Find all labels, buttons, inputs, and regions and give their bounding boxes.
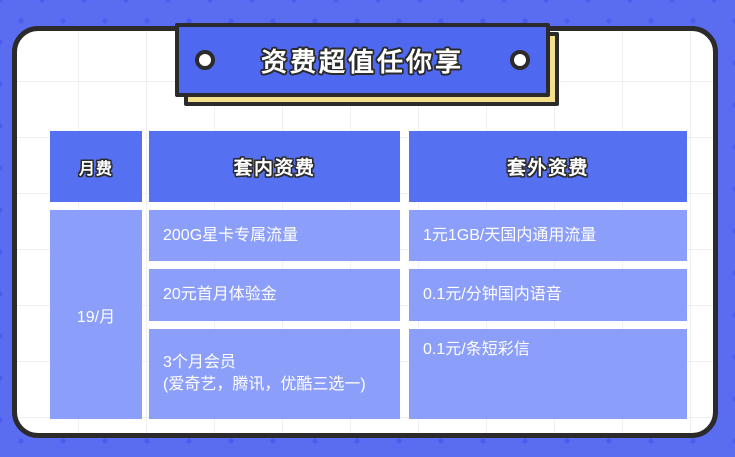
banner-dot-left-icon [195,50,215,70]
header-cell-out-package: 套外资费 [409,131,687,202]
header-cell-in-package: 套内资费 [149,131,400,202]
cell-out-package-1: 1元1GB/天国内通用流量 [409,210,687,261]
cell-in-package-3: 3个月会员 (爱奇艺，腾讯，优酷三选一) [149,329,400,419]
header-cell-monthly-fee: 月费 [50,131,142,202]
cell-monthly-fee-value: 19/月 [50,210,142,419]
cell-in-package-1: 200G星卡专属流量 [149,210,400,261]
column-in-package: 套内资费 200G星卡专属流量 20元首月体验金 3个月会员 (爱奇艺，腾讯，优… [149,131,400,419]
cell-out-package-3-text: 0.1元/条短彩信 [423,339,530,361]
title-banner: 资费超值任你享 [175,23,550,97]
banner-dot-right-icon [510,50,530,70]
cell-out-package-2: 0.1元/分钟国内语音 [409,269,687,321]
header-label-out-package: 套外资费 [507,153,589,180]
cell-in-package-2: 20元首月体验金 [149,269,400,321]
header-label-in-package: 套内资费 [233,153,315,180]
banner-title: 资费超值任你享 [261,42,464,79]
column-out-package: 套外资费 1元1GB/天国内通用流量 0.1元/分钟国内语音 0.1元/条短彩信 [409,131,687,419]
header-label-monthly-fee: 月费 [79,155,113,179]
cell-out-package-3: 0.1元/条短彩信 [409,329,687,419]
cell-in-package-3-line1: 3个月会员 [163,352,366,374]
tariff-table: 月费 19/月 套内资费 200G星卡专属流量 20元首月体验金 3个月会员 (… [50,131,687,419]
cell-in-package-3-line2: (爱奇艺，腾讯，优酷三选一) [163,374,366,396]
column-monthly-fee: 月费 19/月 [50,131,142,419]
